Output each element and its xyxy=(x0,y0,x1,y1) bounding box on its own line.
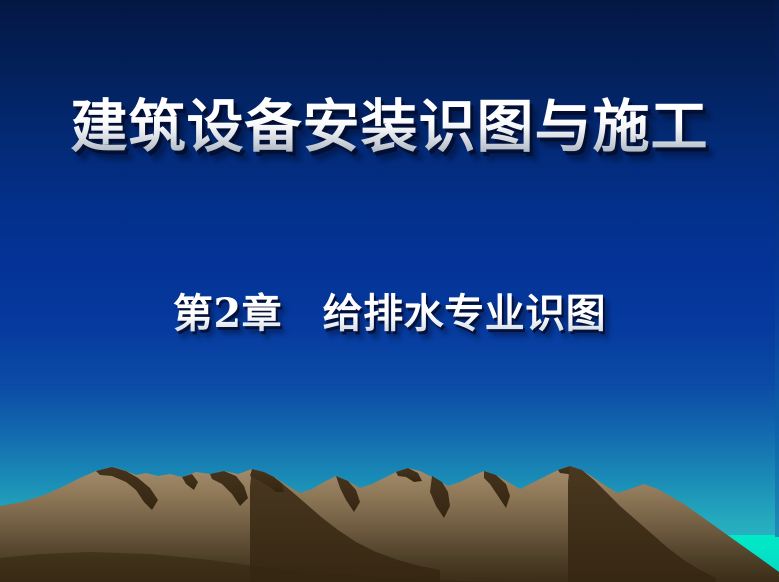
slide-right-edge-strip xyxy=(775,0,779,537)
mountain-range-graphic xyxy=(0,462,779,582)
subtitle-placeholder: 第2章 给排水专业识图 xyxy=(0,292,779,337)
slide-title: 建筑设备安装识图与施工 xyxy=(71,96,709,158)
slide-subtitle: 第2章 给排水专业识图 xyxy=(173,292,606,337)
title-placeholder: 建筑设备安装识图与施工 xyxy=(0,96,779,158)
presentation-slide: 建筑设备安装识图与施工 第2章 给排水专业识图 xyxy=(0,0,779,582)
